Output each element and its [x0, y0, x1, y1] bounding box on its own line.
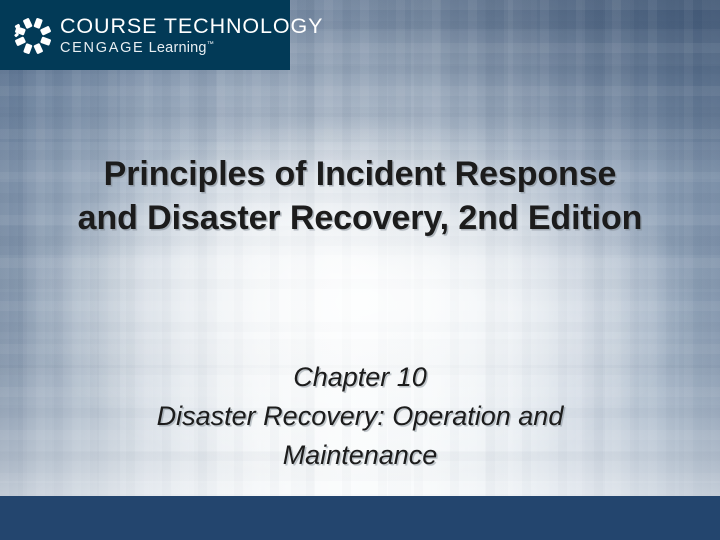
logo-cengage-text: CENGAGE [60, 40, 144, 56]
subtitle-chapter-number: Chapter 10 [80, 358, 640, 397]
slide-subtitle: Chapter 10 Disaster Recovery: Operation … [80, 358, 640, 475]
publisher-logo-block: COURSE TECHNOLOGY CENGAGE Learning™ [0, 0, 290, 70]
course-technology-pinwheel-icon [12, 13, 54, 57]
title-line-2: and Disaster Recovery, 2nd Edition [0, 196, 720, 240]
publisher-logo-wordmark: COURSE TECHNOLOGY CENGAGE Learning™ [60, 15, 323, 55]
logo-learning-text: Learning [144, 40, 206, 56]
subtitle-chapter-title-line-1: Disaster Recovery: Operation and [80, 397, 640, 436]
title-line-1: Principles of Incident Response [0, 152, 720, 196]
subtitle-chapter-title-line-2: Maintenance [80, 436, 640, 475]
slide-title: Principles of Incident Response and Disa… [0, 152, 720, 240]
trademark-icon: ™ [207, 41, 214, 48]
slide-canvas: COURSE TECHNOLOGY CENGAGE Learning™ Prin… [0, 0, 720, 540]
logo-course-technology-text: COURSE TECHNOLOGY [60, 16, 323, 38]
logo-cengage-learning-text: CENGAGE Learning™ [60, 41, 323, 56]
slide-footer-bar [0, 496, 720, 540]
